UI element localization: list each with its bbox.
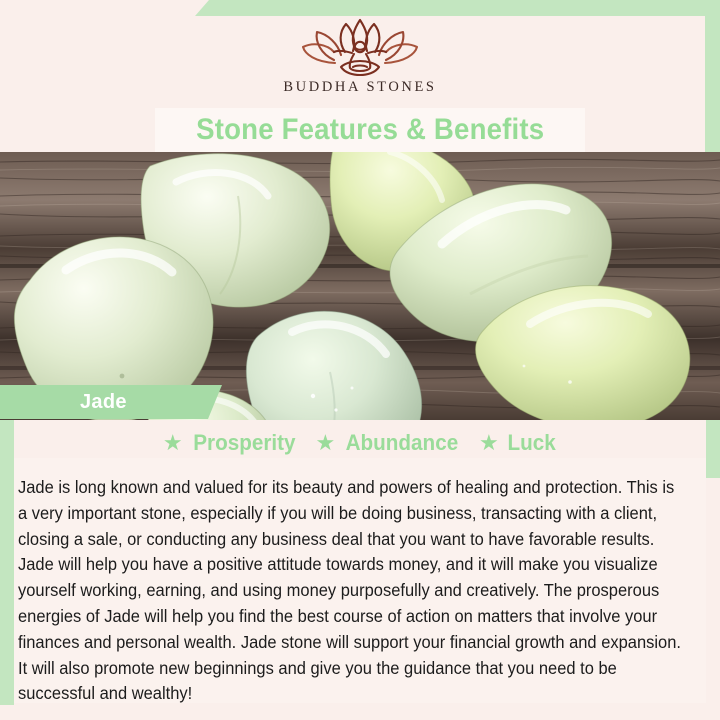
star-icon: ★	[163, 432, 183, 454]
benefit-label: Luck	[507, 430, 555, 456]
lotus-meditation-icon	[301, 16, 419, 78]
benefit-item-luck: ★ Luck	[479, 430, 557, 456]
star-icon: ★	[315, 432, 335, 454]
infographic-page: BUDDHA STONES Stone Features & Benefits	[0, 0, 720, 720]
brand-wordmark: BUDDHA STONES	[283, 79, 436, 96]
benefit-label: Abundance	[346, 430, 459, 456]
description-text: Jade is long known and valued for its be…	[18, 475, 682, 707]
benefit-item-abundance: ★ Abundance	[315, 430, 462, 456]
benefit-label: Prosperity	[193, 430, 295, 456]
brand-logo-block: BUDDHA STONES	[0, 16, 720, 106]
description-panel: Jade is long known and valued for its be…	[14, 458, 706, 703]
stone-name-label: Jade	[80, 391, 127, 414]
benefit-item-prosperity: ★ Prosperity	[163, 430, 299, 456]
top-green-accent-band	[195, 0, 720, 16]
title-banner: Stone Features & Benefits	[155, 108, 585, 152]
jade-stones-photo	[0, 152, 720, 420]
benefits-row: ★ Prosperity ★ Abundance ★ Luck	[0, 430, 720, 456]
stone-name-banner: Jade	[0, 385, 222, 419]
star-icon: ★	[479, 432, 499, 454]
page-title: Stone Features & Benefits	[196, 113, 544, 147]
